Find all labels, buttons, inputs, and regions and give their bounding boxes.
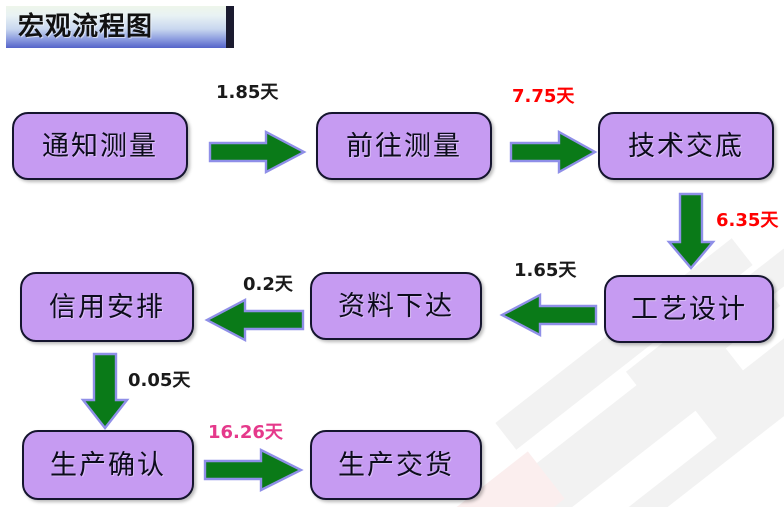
duration-value: 6.35天 [716, 210, 778, 231]
node-label: 工艺设计 [631, 296, 747, 323]
node-credit-arrange[interactable]: 信用安排 [20, 272, 194, 342]
duration-tech-to-design: 6.35天 [716, 212, 778, 230]
node-label: 通知测量 [42, 133, 158, 160]
node-tech-briefing[interactable]: 技术交底 [598, 112, 774, 180]
duration-confirm-to-delivery: 16.26天 [208, 424, 283, 442]
node-notify-measure[interactable]: 通知测量 [12, 112, 188, 180]
page-title: 宏观流程图 [6, 14, 153, 40]
duration-notify-to-go: 1.85天 [216, 84, 278, 102]
duration-value: 0.2天 [243, 274, 293, 295]
node-go-measure[interactable]: 前往测量 [316, 112, 492, 180]
background-watermark [494, 317, 784, 507]
duration-credit-to-confirm: 0.05天 [128, 372, 190, 390]
node-label: 前往测量 [346, 133, 462, 160]
node-label: 生产交货 [338, 452, 454, 479]
node-label: 技术交底 [628, 133, 744, 160]
node-data-release[interactable]: 资料下达 [310, 272, 482, 340]
node-label: 生产确认 [50, 452, 166, 479]
arrow-tech-to-design [666, 192, 716, 270]
node-prod-confirm[interactable]: 生产确认 [22, 430, 194, 500]
duration-data-to-credit: 0.2天 [243, 276, 293, 294]
arrow-go-to-tech [509, 130, 597, 174]
node-process-design[interactable]: 工艺设计 [604, 275, 774, 343]
node-prod-delivery[interactable]: 生产交货 [310, 430, 482, 500]
slide-title-plate: 宏观流程图 [6, 6, 234, 48]
node-label: 资料下达 [338, 293, 454, 320]
node-label: 信用安排 [49, 294, 165, 321]
arrow-data-to-credit [205, 298, 305, 342]
duration-go-to-tech: 7.75天 [512, 88, 574, 106]
duration-value: 7.75天 [512, 86, 574, 107]
arrow-notify-to-go [208, 130, 306, 174]
arrow-design-to-data [500, 293, 598, 337]
duration-value: 0.05天 [128, 370, 190, 391]
slide-canvas: 宏观流程图 通知测量 1.85天 前往测量 7.75天 技术交底 6.35天 工… [0, 0, 784, 507]
duration-value: 1.65天 [514, 260, 576, 281]
arrow-credit-to-confirm [80, 352, 130, 430]
duration-value: 16.26天 [208, 422, 283, 443]
arrow-confirm-to-delivery [203, 448, 303, 492]
duration-design-to-data: 1.65天 [514, 262, 576, 280]
duration-value: 1.85天 [216, 82, 278, 103]
